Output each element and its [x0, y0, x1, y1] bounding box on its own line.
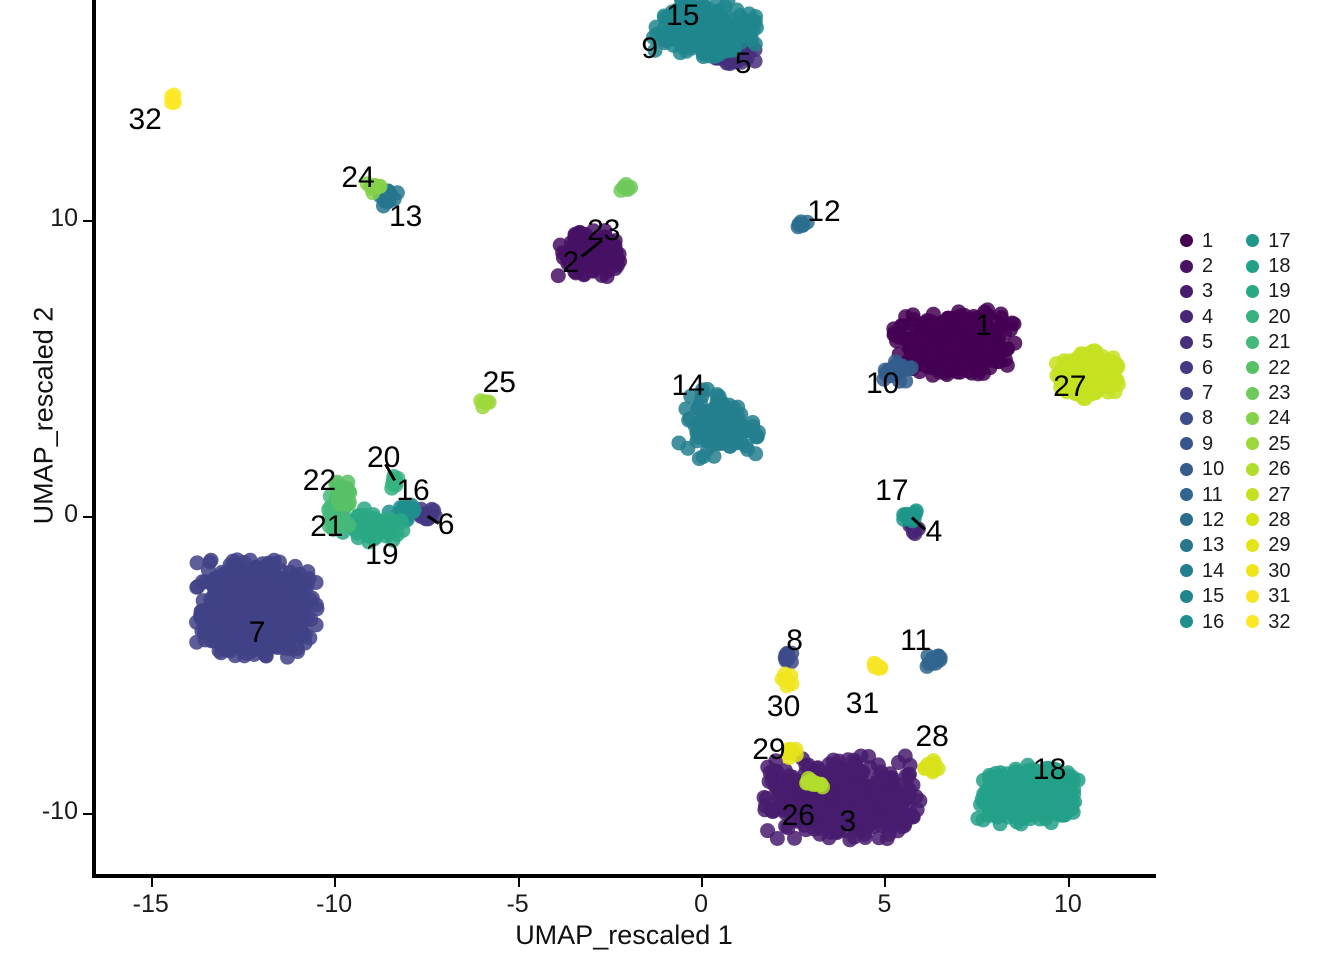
- cluster-label-20: 20: [367, 441, 400, 475]
- legend-item-18[interactable]: 18: [1246, 253, 1290, 278]
- legend-label: 11: [1202, 485, 1223, 505]
- legend-color-swatch: [1246, 260, 1259, 273]
- x-tick-label: 5: [844, 890, 924, 919]
- legend-color-swatch: [1246, 463, 1259, 476]
- legend-label: 3: [1202, 281, 1213, 301]
- legend-column-2: 17181920212223242526272829303132: [1246, 228, 1290, 634]
- legend-item-8[interactable]: 8: [1180, 406, 1224, 431]
- x-tick-label: 10: [1028, 890, 1108, 919]
- legend-color-swatch: [1180, 564, 1193, 577]
- legend-color-swatch: [1180, 336, 1193, 349]
- x-tick-mark: [518, 878, 520, 887]
- legend-color-swatch: [1246, 564, 1259, 577]
- y-tick-mark: [83, 220, 92, 222]
- legend-item-3[interactable]: 3: [1180, 279, 1224, 304]
- cluster-label-18: 18: [1033, 753, 1066, 787]
- cluster-points-30: [775, 667, 800, 694]
- legend-item-32[interactable]: 32: [1246, 609, 1290, 634]
- legend-item-9[interactable]: 9: [1180, 431, 1224, 456]
- legend-label: 17: [1268, 231, 1290, 251]
- cluster-label-27: 27: [1053, 370, 1086, 404]
- cluster-label-29: 29: [752, 733, 785, 767]
- legend-label: 4: [1202, 307, 1213, 327]
- legend-label: 28: [1268, 510, 1290, 530]
- cluster-points-23: [613, 177, 638, 198]
- legend-item-26[interactable]: 26: [1246, 457, 1290, 482]
- legend-label: 20: [1268, 307, 1290, 327]
- x-tick-mark: [334, 878, 336, 887]
- legend-label: 22: [1268, 358, 1290, 378]
- legend-label: 16: [1202, 612, 1224, 632]
- legend-item-11[interactable]: 11: [1180, 482, 1224, 507]
- cluster-label-3: 3: [839, 805, 856, 839]
- cluster-label-11: 11: [900, 624, 931, 658]
- cluster-label-1: 1: [975, 309, 992, 343]
- cluster-label-21: 21: [310, 510, 343, 544]
- legend-label: 7: [1202, 383, 1213, 403]
- y-tick-mark: [83, 516, 92, 518]
- cluster-label-4: 4: [926, 515, 943, 549]
- legend-label: 14: [1202, 561, 1224, 581]
- cluster-label-10: 10: [866, 367, 899, 401]
- legend-color-swatch: [1180, 310, 1193, 323]
- cluster-label-26: 26: [782, 799, 815, 833]
- legend-item-25[interactable]: 25: [1246, 431, 1290, 456]
- y-tick-mark: [83, 813, 92, 815]
- cluster-label-24: 24: [341, 161, 374, 195]
- legend-label: 21: [1268, 332, 1290, 352]
- legend-item-28[interactable]: 28: [1246, 507, 1290, 532]
- legend-color-swatch: [1180, 412, 1193, 425]
- legend-color-swatch: [1180, 539, 1193, 552]
- legend-color-swatch: [1246, 234, 1259, 247]
- cluster-label-31: 31: [846, 687, 879, 721]
- cluster-label-17: 17: [875, 474, 908, 508]
- legend-column-1: 12345678910111213141516: [1180, 228, 1224, 634]
- cluster-points-32: [164, 87, 182, 110]
- legend-color-swatch: [1180, 361, 1193, 374]
- cluster-label-9: 9: [641, 32, 658, 66]
- cluster-label-32: 32: [129, 103, 162, 137]
- legend-label: 27: [1268, 485, 1290, 505]
- legend-label: 25: [1268, 434, 1290, 454]
- x-tick-label: -10: [294, 890, 374, 919]
- legend-label: 12: [1202, 510, 1224, 530]
- legend-item-4[interactable]: 4: [1180, 304, 1224, 329]
- legend-item-22[interactable]: 22: [1246, 355, 1290, 380]
- legend-item-24[interactable]: 24: [1246, 406, 1290, 431]
- legend-label: 26: [1268, 459, 1290, 479]
- legend-item-13[interactable]: 13: [1180, 533, 1224, 558]
- cluster-label-23: 23: [587, 214, 620, 248]
- legend-item-15[interactable]: 15: [1180, 583, 1224, 608]
- legend-label: 31: [1268, 586, 1290, 606]
- legend-item-29[interactable]: 29: [1246, 533, 1290, 558]
- legend-color-swatch: [1246, 513, 1259, 526]
- umap-scatter-figure: -15-10-50510 -10010 12345678910111213141…: [0, 0, 1344, 960]
- x-tick-label: -5: [478, 890, 558, 919]
- legend-item-10[interactable]: 10: [1180, 457, 1224, 482]
- legend-label: 1: [1202, 231, 1213, 251]
- legend-color-swatch: [1180, 285, 1193, 298]
- legend-color-swatch: [1246, 387, 1259, 400]
- legend-label: 19: [1268, 281, 1290, 301]
- legend-item-17[interactable]: 17: [1246, 228, 1290, 253]
- legend-item-21[interactable]: 21: [1246, 330, 1290, 355]
- legend-color-swatch: [1180, 234, 1193, 247]
- cluster-label-13: 13: [389, 200, 422, 234]
- cluster-label-6: 6: [438, 508, 455, 542]
- legend-color-swatch: [1246, 437, 1259, 450]
- cluster-label-5: 5: [735, 47, 752, 81]
- x-tick-label: 0: [661, 890, 741, 919]
- legend-label: 8: [1202, 408, 1213, 428]
- legend-label: 23: [1268, 383, 1290, 403]
- legend-label: 6: [1202, 358, 1213, 378]
- legend-label: 29: [1268, 535, 1290, 555]
- cluster-label-19: 19: [365, 538, 398, 572]
- legend-item-5[interactable]: 5: [1180, 330, 1224, 355]
- legend-color-swatch: [1180, 260, 1193, 273]
- x-tick-mark: [884, 878, 886, 887]
- legend-item-27[interactable]: 27: [1246, 482, 1290, 507]
- cluster-label-22: 22: [303, 464, 336, 498]
- y-axis-title: UMAP_rescaled 2: [29, 166, 60, 666]
- legend-item-12[interactable]: 12: [1180, 507, 1224, 532]
- scatter-points: [92, 0, 1156, 878]
- legend-item-6[interactable]: 6: [1180, 355, 1224, 380]
- cluster-label-16: 16: [396, 474, 429, 508]
- legend-label: 9: [1202, 434, 1213, 454]
- legend-item-19[interactable]: 19: [1246, 279, 1290, 304]
- cluster-label-7: 7: [249, 616, 266, 650]
- legend-item-16[interactable]: 16: [1180, 609, 1224, 634]
- cluster-label-2: 2: [562, 246, 579, 280]
- legend-color-swatch: [1180, 463, 1193, 476]
- legend-label: 32: [1268, 612, 1290, 632]
- legend-item-31[interactable]: 31: [1246, 583, 1290, 608]
- x-tick-mark: [151, 878, 153, 887]
- legend-color-swatch: [1180, 513, 1193, 526]
- legend-color-swatch: [1246, 488, 1259, 501]
- legend-item-14[interactable]: 14: [1180, 558, 1224, 583]
- legend-label: 13: [1202, 535, 1224, 555]
- legend-color-swatch: [1246, 539, 1259, 552]
- cluster-label-30: 30: [767, 690, 800, 724]
- legend-label: 2: [1202, 256, 1213, 276]
- legend-color-swatch: [1180, 387, 1193, 400]
- x-tick-label: -15: [111, 890, 191, 919]
- x-axis-title: UMAP_rescaled 1: [92, 920, 1156, 951]
- legend: 1234567891011121314151617181920212223242…: [1180, 228, 1330, 634]
- legend-color-swatch: [1246, 336, 1259, 349]
- legend-color-swatch: [1180, 488, 1193, 501]
- legend-color-swatch: [1246, 615, 1259, 628]
- x-tick-mark: [1068, 878, 1070, 887]
- cluster-label-25: 25: [483, 366, 516, 400]
- x-tick-mark: [701, 878, 703, 887]
- cluster-label-15: 15: [666, 0, 699, 33]
- cluster-points-28: [917, 753, 945, 779]
- legend-item-30[interactable]: 30: [1246, 558, 1290, 583]
- legend-color-swatch: [1246, 412, 1259, 425]
- legend-label: 18: [1268, 256, 1290, 276]
- legend-item-1[interactable]: 1: [1180, 228, 1224, 253]
- legend-color-swatch: [1246, 590, 1259, 603]
- legend-label: 5: [1202, 332, 1213, 352]
- cluster-points-31: [867, 656, 889, 676]
- y-tick-label: -10: [0, 797, 78, 826]
- legend-label: 10: [1202, 459, 1224, 479]
- legend-item-7[interactable]: 7: [1180, 380, 1224, 405]
- legend-item-20[interactable]: 20: [1246, 304, 1290, 329]
- legend-label: 30: [1268, 561, 1290, 581]
- legend-label: 24: [1268, 408, 1290, 428]
- legend-color-swatch: [1180, 615, 1193, 628]
- legend-color-swatch: [1246, 310, 1259, 323]
- legend-color-swatch: [1180, 437, 1193, 450]
- cluster-label-8: 8: [786, 624, 803, 658]
- legend-label: 15: [1202, 586, 1224, 606]
- legend-color-swatch: [1180, 590, 1193, 603]
- legend-color-swatch: [1246, 361, 1259, 374]
- cluster-label-12: 12: [807, 195, 840, 229]
- legend-item-2[interactable]: 2: [1180, 253, 1224, 278]
- legend-color-swatch: [1246, 285, 1259, 298]
- cluster-label-14: 14: [672, 369, 705, 403]
- plot-area: [92, 0, 1156, 878]
- cluster-points-18: [970, 758, 1085, 832]
- cluster-label-28: 28: [916, 720, 949, 754]
- legend-item-23[interactable]: 23: [1246, 380, 1290, 405]
